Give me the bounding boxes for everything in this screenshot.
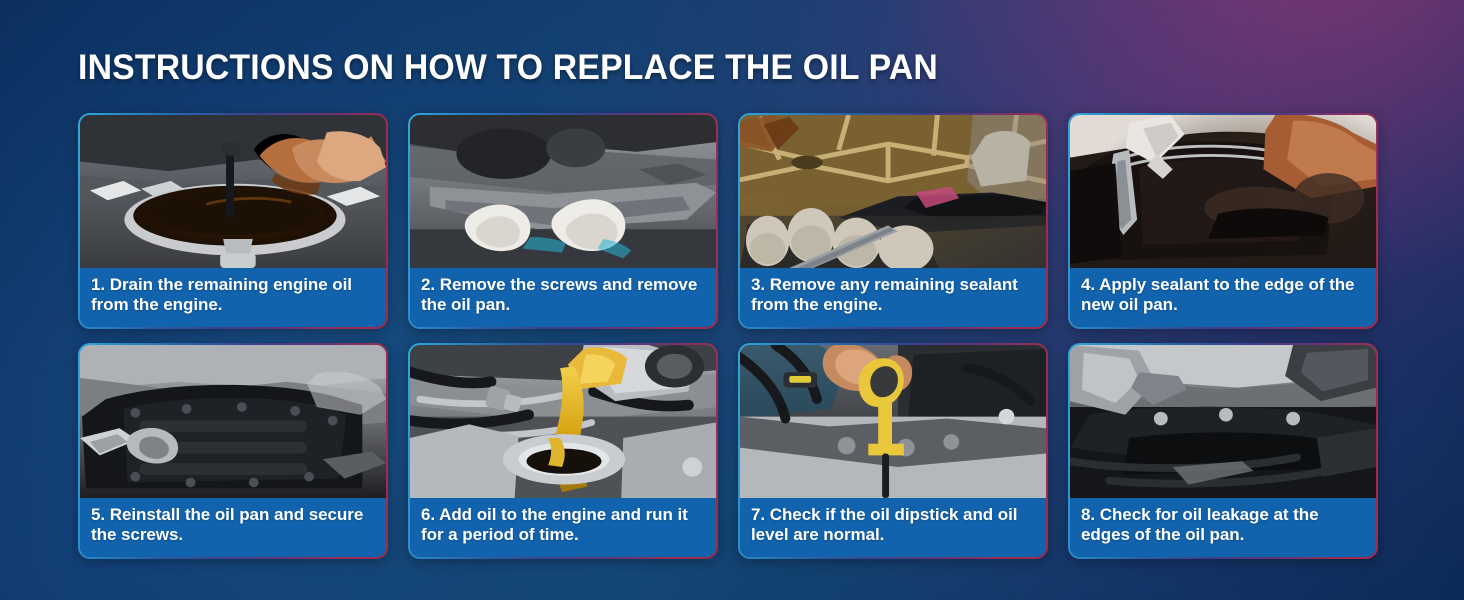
step-card-5: 5. Reinstall the oil pan and secure the … [78, 343, 388, 559]
step-card-4: 4. Apply sealant to the edge of the new … [1068, 113, 1378, 329]
step-caption-8: 8. Check for oil leakage at the edges of… [1070, 498, 1376, 557]
step-image-2 [410, 115, 716, 268]
step-caption-4: 4. Apply sealant to the edge of the new … [1070, 268, 1376, 327]
step-card-7: 7. Check if the oil dipstick and oil lev… [738, 343, 1048, 559]
step-image-1 [80, 115, 386, 268]
step-caption-5: 5. Reinstall the oil pan and secure the … [80, 498, 386, 557]
step-image-7 [740, 345, 1046, 498]
step-card-1: 1. Drain the remaining engine oil from t… [78, 113, 388, 329]
step-image-8 [1070, 345, 1376, 498]
step-caption-1: 1. Drain the remaining engine oil from t… [80, 268, 386, 327]
step-card-8: 8. Check for oil leakage at the edges of… [1068, 343, 1378, 559]
step-image-5 [80, 345, 386, 498]
step-caption-2: 2. Remove the screws and remove the oil … [410, 268, 716, 327]
step-image-3 [740, 115, 1046, 268]
infographic-root: INSTRUCTIONS ON HOW TO REPLACE THE OIL P… [0, 0, 1464, 600]
step-caption-6: 6. Add oil to the engine and run it for … [410, 498, 716, 557]
step-image-6 [410, 345, 716, 498]
page-title: INSTRUCTIONS ON HOW TO REPLACE THE OIL P… [78, 48, 938, 88]
step-card-6: 6. Add oil to the engine and run it for … [408, 343, 718, 559]
step-image-4 [1070, 115, 1376, 268]
step-caption-3: 3. Remove any remaining sealant from the… [740, 268, 1046, 327]
step-card-3: 3. Remove any remaining sealant from the… [738, 113, 1048, 329]
step-caption-7: 7. Check if the oil dipstick and oil lev… [740, 498, 1046, 557]
step-card-2: 2. Remove the screws and remove the oil … [408, 113, 718, 329]
steps-grid: 1. Drain the remaining engine oil from t… [78, 113, 1388, 559]
